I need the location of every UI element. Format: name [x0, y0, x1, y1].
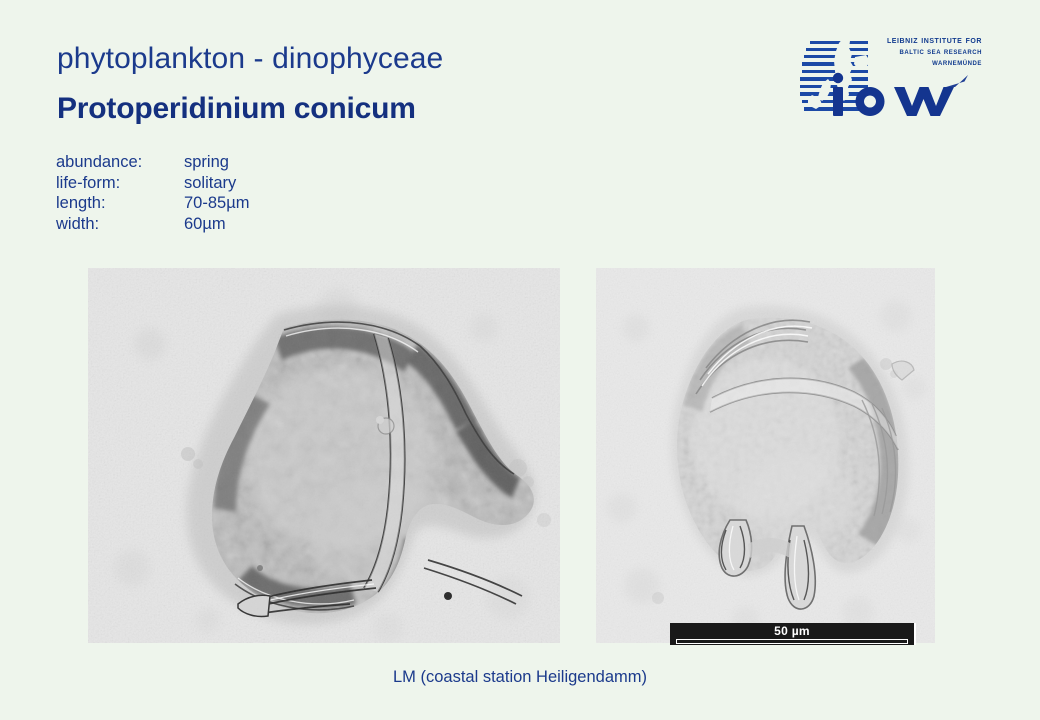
- table-row: width: 60µm: [56, 214, 249, 235]
- micrograph-right-image: [596, 268, 935, 643]
- metadata-key-life-form: life-form:: [56, 173, 184, 194]
- table-row: life-form: solitary: [56, 173, 249, 194]
- scale-bar-rule: [676, 639, 908, 644]
- logo-institute-text: Leibniz Institute for Baltic Sea Researc…: [887, 35, 982, 68]
- metadata-key-abundance: abundance:: [56, 152, 184, 173]
- metadata-value-life-form: solitary: [184, 173, 249, 194]
- micrograph-left: [88, 268, 560, 643]
- iow-logo: Leibniz Institute for Baltic Sea Researc…: [800, 33, 982, 118]
- page-title: phytoplankton - dinophyceae: [57, 42, 443, 76]
- species-name: Protoperidinium conicum: [57, 92, 416, 126]
- logo-text-line-2: Baltic Sea Research: [887, 46, 982, 57]
- micrograph-left-image: [88, 268, 560, 643]
- micrograph-right: [596, 268, 935, 643]
- figure-caption: LM (coastal station Heiligendamm): [0, 668, 1040, 687]
- metadata-key-width: width:: [56, 214, 184, 235]
- scale-bar-label: 50 µm: [670, 624, 914, 638]
- table-row: length: 70-85µm: [56, 193, 249, 214]
- metadata-value-length: 70-85µm: [184, 193, 249, 214]
- scale-bar: 50 µm: [670, 623, 916, 645]
- logo-text-line-3: Warnemünde: [887, 57, 982, 68]
- iow-wordmark-icon: [826, 71, 982, 117]
- logo-text-line-1: Leibniz Institute for: [887, 35, 982, 46]
- table-row: abundance: spring: [56, 152, 249, 173]
- metadata-key-length: length:: [56, 193, 184, 214]
- metadata-table: abundance: spring life-form: solitary le…: [56, 152, 249, 234]
- metadata-value-width: 60µm: [184, 214, 249, 235]
- metadata-value-abundance: spring: [184, 152, 249, 173]
